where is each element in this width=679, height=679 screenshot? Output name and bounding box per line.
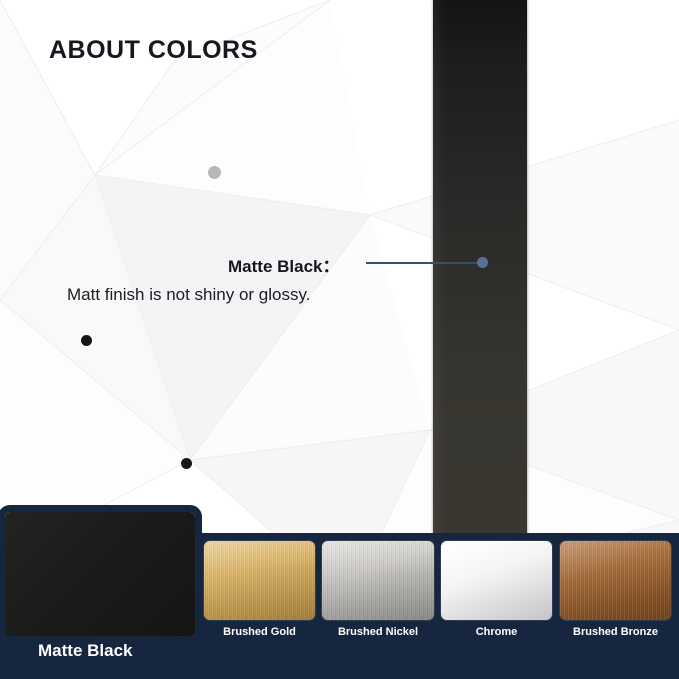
callout-description: Matt finish is not shiny or glossy. [67,285,310,305]
chip-sheen [322,541,434,620]
callout-label: Matte Black： [228,252,339,277]
chip-sheen [560,541,671,620]
swatch-chip-chrome[interactable] [441,541,552,620]
swatch-chip-brushed-gold[interactable] [204,541,315,620]
chip-sheen [441,541,552,620]
swatch-label-brushed-gold: Brushed Gold [204,626,315,638]
swatch-label-brushed-nickel: Brushed Nickel [322,626,434,638]
product-color-infographic: ABOUT COLORS Matte Black： Matt finish is… [0,0,679,679]
swatch-chip-brushed-nickel[interactable] [322,541,434,620]
swatch-label-brushed-bronze: Brushed Bronze [560,626,671,638]
black-dot-upper [81,335,92,346]
gray-dot [208,166,221,179]
swatch-chip-matte-black-selected[interactable] [5,512,195,636]
strip-edge-highlight [433,0,447,534]
swatch-label-chrome: Chrome [441,626,552,638]
callout-endpoint-dot [477,257,488,268]
swatch-chip-brushed-bronze[interactable] [560,541,671,620]
chip-sheen [204,541,315,620]
page-title: ABOUT COLORS [49,36,258,65]
callout-leader-line [366,262,480,264]
black-dot-lower [181,458,192,469]
swatch-label-matte-black: Matte Black [38,641,132,661]
